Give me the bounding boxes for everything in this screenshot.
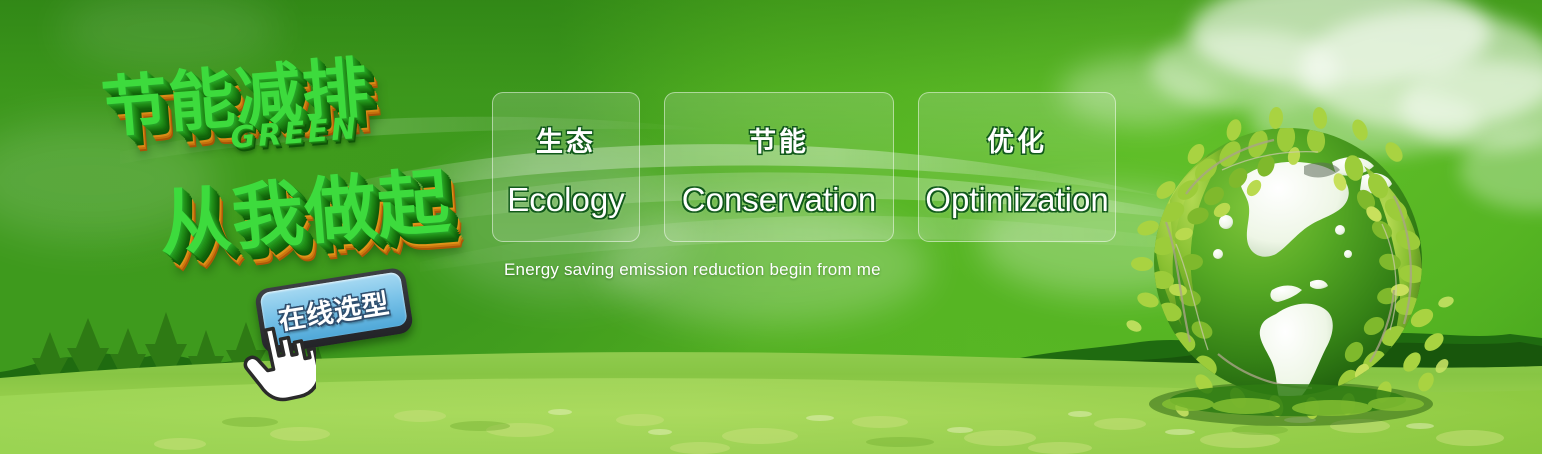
feature-card-en-label: Conservation <box>682 181 876 219</box>
feature-card-list: 生态 Ecology 节能 Conservation 优化 Optimizati… <box>492 92 1116 242</box>
hero-title-line2: 从我做起 <box>154 142 453 270</box>
feature-card-cn-label: 节能 <box>749 120 809 159</box>
leafy-earth-globe <box>1126 104 1466 440</box>
feature-card-cn-label: 优化 <box>987 120 1047 159</box>
pointing-hand-cursor-icon <box>242 318 316 404</box>
feature-card-optimization[interactable]: 优化 Optimization <box>918 92 1116 242</box>
hero-title-3d: 节能减排 GREEN 从我做起 <box>87 19 505 290</box>
banner-tagline: Energy saving emission reduction begin f… <box>504 260 881 280</box>
feature-card-ecology[interactable]: 生态 Ecology <box>492 92 640 242</box>
feature-card-conservation[interactable]: 节能 Conservation <box>664 92 894 242</box>
feature-card-en-label: Optimization <box>925 181 1108 219</box>
feature-card-cn-label: 生态 <box>536 120 596 159</box>
feature-card-en-label: Ecology <box>507 181 624 219</box>
eco-banner: 节能减排 GREEN 从我做起 在线选型 生态 Ecology 节能 Conse… <box>0 0 1542 454</box>
